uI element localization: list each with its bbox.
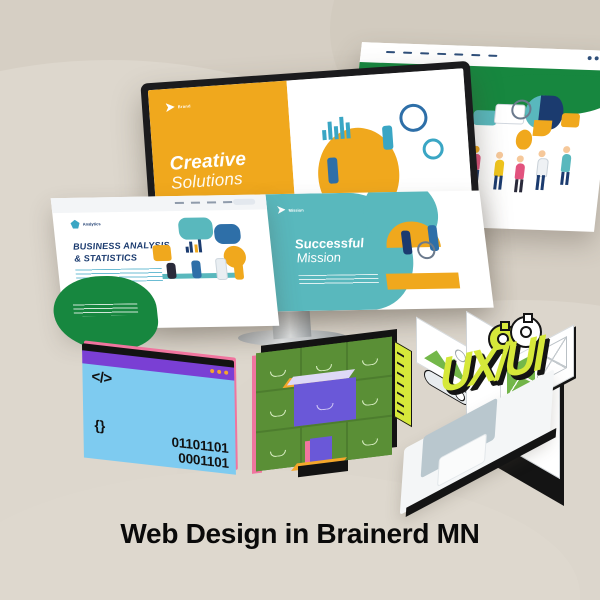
cabinet-drawer[interactable] — [348, 417, 392, 460]
person-figure — [514, 155, 526, 179]
code-tag-icon: </> — [91, 368, 111, 387]
green-filing-cabinet[interactable] — [256, 337, 392, 472]
chat-bubble-blue — [213, 224, 241, 244]
page-title: Web Design in Brainerd MN — [0, 518, 600, 550]
browser-window-dots[interactable] — [587, 56, 600, 61]
teal-card-body-text — [299, 274, 379, 286]
card-browser-toolbar — [51, 194, 267, 213]
poster-canvas: Business Growing up your business soluti… — [0, 0, 600, 600]
code-browser-window[interactable]: </> {} 01101101 0001101 — [82, 347, 236, 477]
creative-heading-line2: Solutions — [171, 170, 249, 193]
person-figure — [536, 151, 550, 178]
person-figure — [214, 258, 227, 280]
window-body: </> {} 01101101 0001101 — [82, 361, 236, 475]
person-figure — [493, 152, 505, 177]
white-card-illustration — [147, 212, 275, 325]
brand-mark-icon — [165, 103, 175, 113]
teal-heading-line1: Successful — [294, 235, 365, 251]
person-figure — [233, 262, 244, 280]
pie-chart-yellow — [533, 120, 553, 137]
teal-card-illustration — [376, 205, 488, 296]
play-badge — [153, 245, 173, 261]
teal-card-heading: Successful Mission — [294, 236, 367, 266]
coin-badge — [561, 113, 581, 128]
curly-brace-icon: {} — [94, 417, 105, 434]
white-card-logo: Analytics — [70, 219, 101, 228]
person-figure — [382, 126, 394, 151]
cabinet-drawer[interactable] — [256, 428, 300, 471]
green-blob-text — [73, 303, 139, 316]
creative-logo-label: Brand — [178, 103, 191, 109]
binary-text: 01101101 0001101 — [171, 434, 229, 471]
chat-bubble-teal — [178, 218, 214, 240]
browser-nav-dashes — [386, 51, 498, 57]
yellow-platform — [386, 273, 460, 290]
cabinet-drawer[interactable] — [348, 337, 392, 380]
uxui-laptop-scene[interactable]: UX/UI — [392, 318, 588, 490]
person-figure — [191, 260, 202, 278]
creative-heading: Creative Solutions — [169, 150, 248, 193]
white-heading-line2: & STATISTICS — [74, 252, 138, 263]
teal-heading-line2: Mission — [296, 251, 367, 266]
card-nav-dashes — [175, 201, 232, 204]
gear-icon — [398, 103, 428, 133]
arrow-logo-icon — [277, 206, 286, 214]
window-control-dots[interactable] — [210, 369, 228, 375]
creative-logo: Brand — [165, 101, 191, 112]
open-drawer[interactable] — [294, 377, 356, 427]
card-search-pill[interactable] — [233, 199, 256, 205]
gear-icon — [422, 138, 444, 160]
successful-mission-card[interactable]: Mission Successful Mission — [260, 191, 494, 312]
person-figure — [561, 146, 573, 172]
person-figure — [166, 263, 177, 279]
teal-card-logo: Mission — [277, 206, 304, 214]
teal-card-logo-label: Mission — [288, 207, 304, 212]
lightbulb-icon — [515, 130, 533, 150]
ruler-icon — [394, 341, 412, 427]
bar-chart-icon — [184, 238, 202, 252]
white-card-logo-label: Analytics — [82, 221, 100, 226]
pentagon-logo-icon — [70, 220, 80, 229]
business-analysis-statistics-card[interactable]: Analytics BUSINESS ANALYSIS & STATISTICS — [51, 194, 280, 329]
bar-chart-icon — [321, 112, 351, 140]
